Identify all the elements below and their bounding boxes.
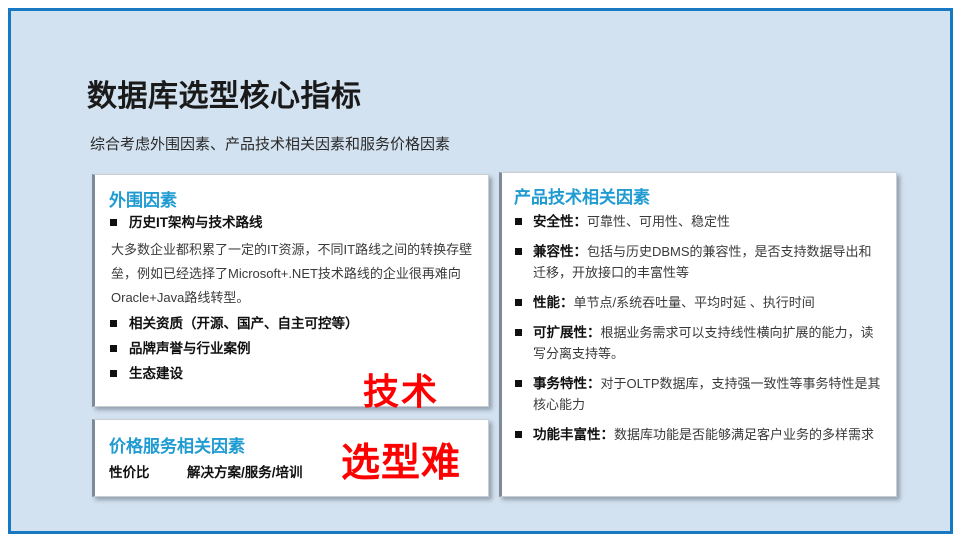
- list-item: 安全性：可靠性、可用性、稳定性: [502, 211, 896, 232]
- list-item: 历史IT架构与技术路线: [95, 213, 488, 232]
- list-item: 可扩展性：根据业务需求可以支持线性横向扩展的能力，读写分离支持等。: [502, 322, 896, 364]
- list-item-label: 性能：: [533, 295, 574, 310]
- square-bullet-icon: [110, 320, 117, 327]
- list-item-label: 可扩展性：: [533, 325, 601, 340]
- annotation-selection-hard: 选型难: [341, 432, 461, 488]
- list-item-description: 单节点/系统吞吐量、平均时延 、执行时间: [574, 295, 815, 310]
- list-item: 事务特性：对于OLTP数据库，支持强一致性等事务特性是其核心能力: [502, 373, 896, 415]
- list-item: 兼容性：包括与历史DBMS的兼容性，是否支持数据导出和迁移，开放接口的丰富性等: [502, 241, 896, 283]
- list-item-label: 品牌声誉与行业案例: [129, 341, 251, 356]
- list-item: 品牌声誉与行业案例: [95, 339, 488, 358]
- square-bullet-icon: [515, 380, 522, 387]
- slide-frame: 数据库选型核心指标 综合考虑外围因素、产品技术相关因素和服务价格因素 外围因素 …: [8, 8, 953, 534]
- slide-canvas: 数据库选型核心指标 综合考虑外围因素、产品技术相关因素和服务价格因素 外围因素 …: [11, 11, 950, 531]
- square-bullet-icon: [110, 219, 117, 226]
- square-bullet-icon: [110, 370, 117, 377]
- price-service-right-label: 解决方案/服务/培训: [187, 465, 303, 480]
- square-bullet-icon: [515, 329, 522, 336]
- list-item-label: 功能丰富性：: [533, 427, 614, 442]
- list-item-label: 相关资质（开源、国产、自主可控等）: [129, 316, 359, 331]
- product-tech-list: 安全性：可靠性、可用性、稳定性 兼容性：包括与历史DBMS的兼容性，是否支持数据…: [502, 211, 896, 454]
- panel-heading-price-service: 价格服务相关因素: [109, 432, 245, 457]
- list-item: 相关资质（开源、国产、自主可控等）: [95, 314, 488, 333]
- annotation-tech: 技术: [363, 363, 439, 415]
- square-bullet-icon: [515, 248, 522, 255]
- list-item: 功能丰富性：数据库功能是否能够满足客户业务的多样需求: [502, 424, 896, 445]
- square-bullet-icon: [515, 218, 522, 225]
- square-bullet-icon: [515, 431, 522, 438]
- price-service-left-label: 性价比: [109, 465, 150, 480]
- list-item-description: 可靠性、可用性、稳定性: [587, 214, 730, 229]
- list-item-label: 安全性：: [533, 214, 587, 229]
- list-item-label: 兼容性：: [533, 244, 587, 259]
- page-title: 数据库选型核心指标: [87, 71, 362, 115]
- list-item-label: 事务特性：: [533, 376, 601, 391]
- list-item-description: 数据库功能是否能够满足客户业务的多样需求: [614, 427, 874, 442]
- panel-product-tech: 产品技术相关因素 安全性：可靠性、可用性、稳定性 兼容性：包括与历史DBMS的兼…: [499, 172, 897, 497]
- outer-factors-paragraph: 大多数企业都积累了一定的IT资源，不同IT路线之间的转换存壁垒，例如已经选择了M…: [95, 238, 488, 310]
- panel-heading-product-tech: 产品技术相关因素: [514, 183, 650, 208]
- square-bullet-icon: [110, 345, 117, 352]
- price-service-line: 性价比 解决方案/服务/培训: [109, 461, 303, 481]
- square-bullet-icon: [515, 299, 522, 306]
- list-item: 性能：单节点/系统吞吐量、平均时延 、执行时间: [502, 292, 896, 313]
- panel-heading-outer-factors: 外围因素: [109, 186, 177, 211]
- list-item-label: 生态建设: [129, 366, 183, 381]
- list-item-label: 历史IT架构与技术路线: [129, 215, 263, 230]
- page-subtitle: 综合考虑外围因素、产品技术相关因素和服务价格因素: [90, 133, 450, 154]
